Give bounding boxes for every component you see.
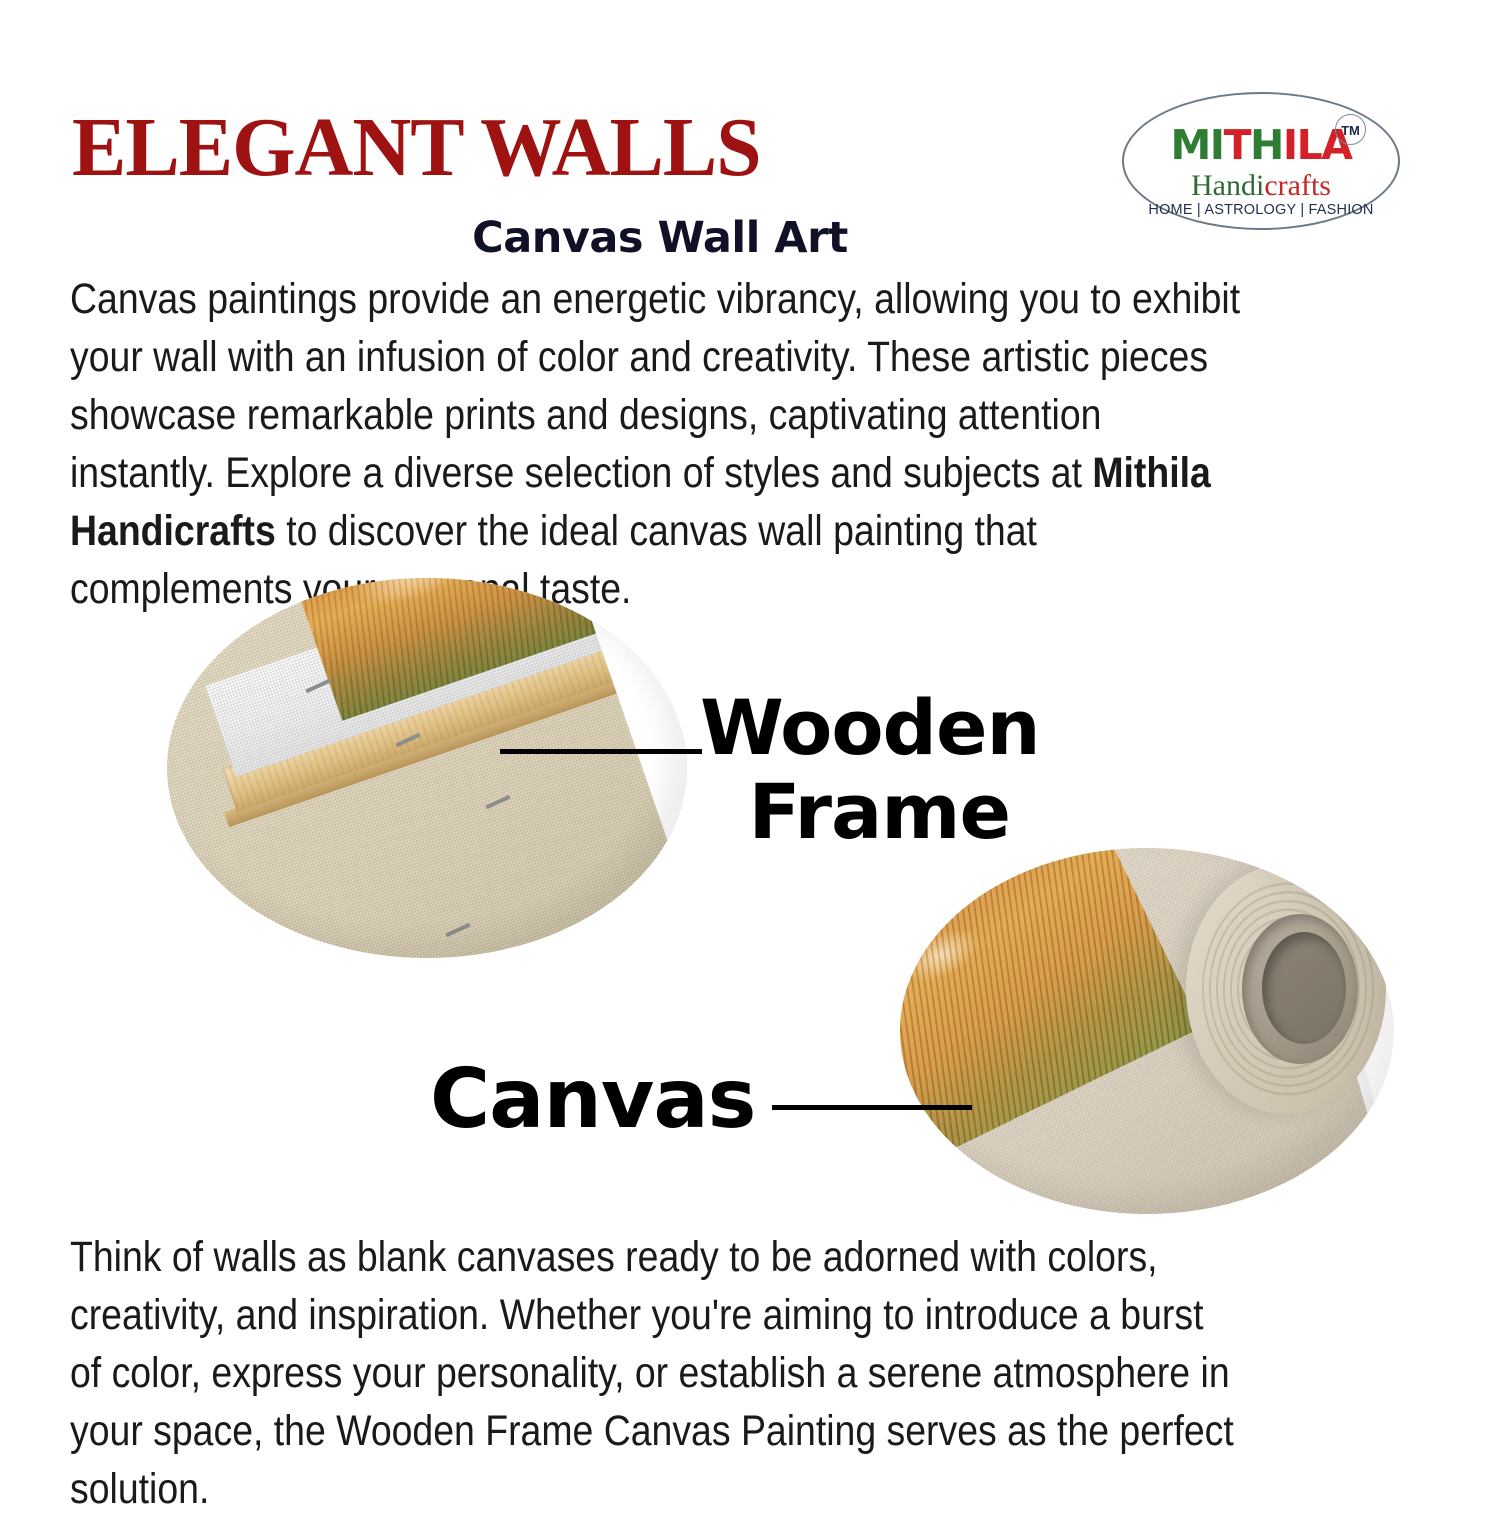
trademark-icon: TM — [1335, 114, 1366, 145]
page-title: ELEGANT WALLS — [72, 106, 761, 190]
intro-paragraph-part-1: Canvas paintings provide an energetic vi… — [70, 275, 1240, 497]
canvas-roll-photo — [900, 848, 1394, 1214]
mithila-handicrafts-logo: MITHILA TM Handicrafts HOME | ASTROLOGY … — [1122, 92, 1400, 230]
logo-wordmark-t: T — [1224, 121, 1250, 169]
logo-wordmark-mi: MI — [1171, 121, 1224, 169]
infographic-page: ELEGANT WALLS MITHILA TM Handicrafts HOM… — [0, 0, 1500, 1500]
logo-subwordmark: Handicrafts — [1122, 170, 1400, 202]
logo-wordmark-h: H — [1250, 121, 1283, 169]
wooden-frame-label: Wooden Frame — [700, 686, 1010, 854]
wooden-frame-leader-line — [500, 749, 702, 754]
wooden-frame-photo — [167, 578, 687, 958]
intro-paragraph: Canvas paintings provide an energetic vi… — [70, 270, 1245, 618]
cardboard-core-hole — [1262, 932, 1346, 1044]
section-subtitle: Canvas Wall Art — [0, 213, 1500, 263]
canvas-label: Canvas — [430, 1052, 755, 1148]
logo-subwordmark-handi: Handi — [1191, 169, 1264, 202]
closing-paragraph: Think of walls as blank canvases ready t… — [70, 1228, 1245, 1518]
logo-subwordmark-crafts: crafts — [1264, 169, 1331, 202]
canvas-leader-line — [772, 1105, 972, 1110]
wooden-frame-photo-content — [167, 578, 687, 958]
